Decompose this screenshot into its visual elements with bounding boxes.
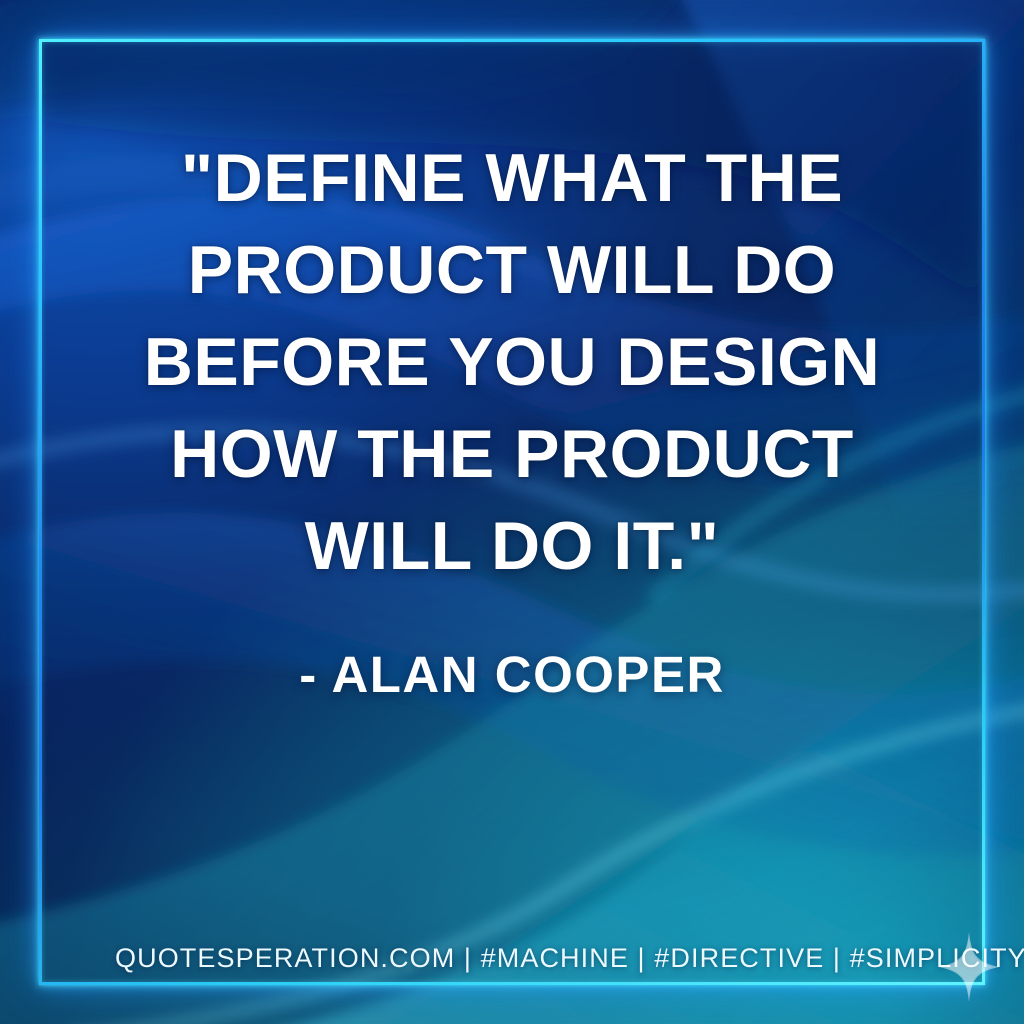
footer-credits: QUOTESPERATION.COM | #MACHINE | #DIRECTI… xyxy=(115,943,1024,974)
quote-attribution: - ALAN COOPER xyxy=(0,645,1024,704)
quote-poster: "DEFINE WHAT THE PRODUCT WILL DO BEFORE … xyxy=(0,0,1024,1024)
quote-line-3: BEFORE YOU DESIGN xyxy=(60,316,964,408)
quote-line-2: PRODUCT WILL DO xyxy=(60,224,964,316)
quote-line-5: WILL DO IT." xyxy=(60,500,964,592)
quote-text-block: "DEFINE WHAT THE PRODUCT WILL DO BEFORE … xyxy=(0,132,1024,592)
quote-line-4: HOW THE PRODUCT xyxy=(60,408,964,500)
quote-line-1: "DEFINE WHAT THE xyxy=(60,132,964,224)
